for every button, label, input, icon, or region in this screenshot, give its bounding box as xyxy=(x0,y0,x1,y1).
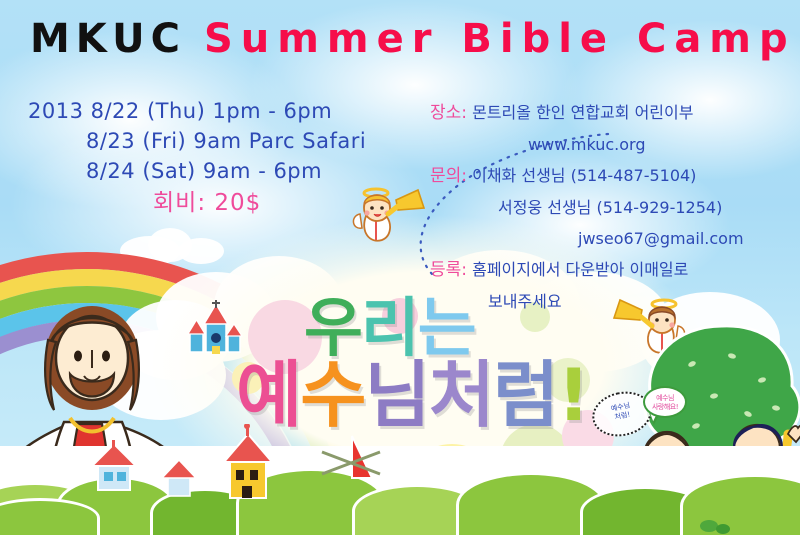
schedule-line-3: 8/24 (Sat) 9am - 6pm xyxy=(28,156,428,186)
speech-bubble-line-1: 예수님 xyxy=(656,394,674,402)
center-title-char-처: 처 xyxy=(429,358,493,432)
speech-bubble: 예수님 사랑해요! xyxy=(643,386,687,418)
cloud-puff-c xyxy=(178,238,224,264)
register-label: 등록: xyxy=(430,260,467,280)
schedule-line-2: 8/23 (Fri) 9am Parc Safari xyxy=(28,126,428,156)
sailboat-illustration xyxy=(318,434,388,490)
house-red-small xyxy=(86,440,142,494)
center-title-char-!: ! xyxy=(557,358,588,432)
center-title-char-수: 수 xyxy=(300,358,364,432)
contact-row-1: 문의: 이채화 선생님 (514-487-5104) xyxy=(430,160,794,192)
poster-title: MKUCSummer Bible Camp xyxy=(30,16,790,62)
title-text: Summer Bible Camp xyxy=(204,16,796,62)
speech-bubble-line-2: 사랑해요! xyxy=(652,403,678,411)
center-title-char-님: 님 xyxy=(365,358,429,432)
contact-value-1: 이채화 선생님 (514-487-5104) xyxy=(472,166,696,185)
contact-label: 문의: xyxy=(430,166,467,186)
house-yellow-tall xyxy=(216,424,278,500)
center-title-char-예: 예 xyxy=(236,358,300,432)
register-row: 등록: 홈페이지에서 다운받아 이매일로 xyxy=(430,254,794,286)
website-row[interactable]: www.mkuc.org xyxy=(430,129,794,160)
place-value: 몬트리올 한인 연합교회 어린이부 xyxy=(472,103,693,122)
poster-canvas: MKUCSummer Bible Camp 2013 8/22 (Thu) 1p… xyxy=(0,0,800,538)
contact-row-2: 서정웅 선생님 (514-929-1254) xyxy=(430,192,794,223)
schedule-line-1: 2013 8/22 (Thu) 1pm - 6pm xyxy=(28,96,428,126)
hill-front-left xyxy=(0,498,100,538)
details-block: 장소: 몬트리올 한인 연합교회 어린이부 www.mkuc.org 문의: 이… xyxy=(430,97,794,317)
place-row: 장소: 몬트리올 한인 연합교회 어린이부 xyxy=(430,97,794,129)
center-title-line-2: 예수님처럼! xyxy=(236,358,588,432)
bush-dot-2 xyxy=(716,524,730,534)
house-far-right xyxy=(160,458,200,498)
title-brand: MKUC xyxy=(30,16,186,62)
register-value: 홈페이지에서 다운받아 이매일로 xyxy=(472,260,688,279)
center-title-graphic: 우리는 예수님처럼! xyxy=(236,296,576,471)
angel-trumpet-center xyxy=(352,186,428,248)
center-title-char-럼: 럼 xyxy=(493,358,557,432)
placard-line-2: 처럼! xyxy=(614,410,631,421)
place-label: 장소: xyxy=(430,103,467,123)
email-row[interactable]: jwseo67@gmail.com xyxy=(430,223,794,254)
